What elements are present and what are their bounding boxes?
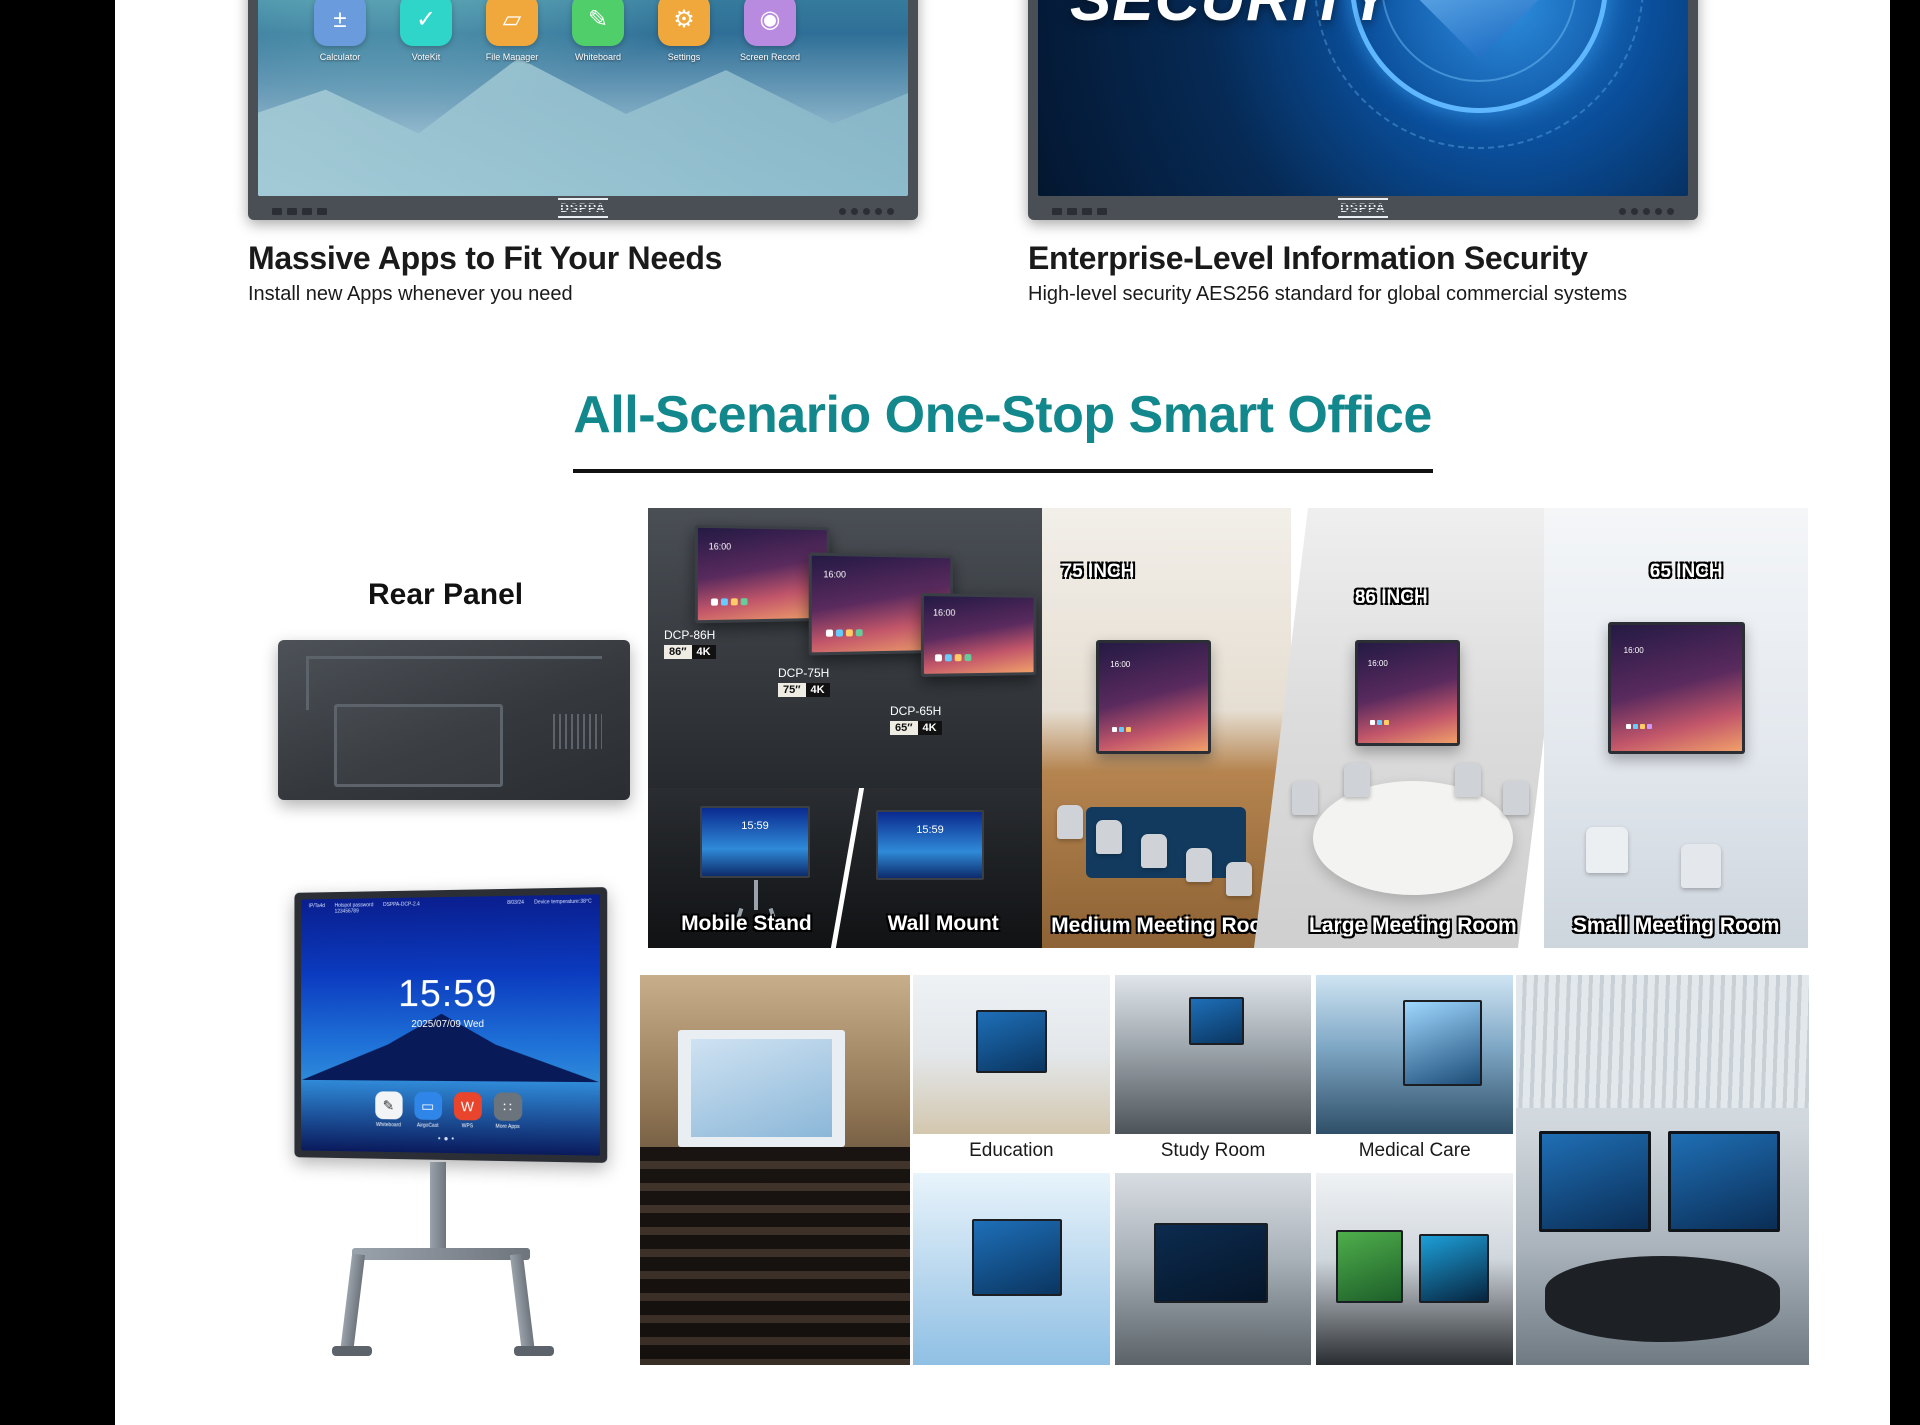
scenario-caption: Education: [913, 1134, 1110, 1168]
cast-icon: ▭: [414, 1092, 442, 1120]
screen-time: 15:59: [702, 820, 808, 832]
boardroom-photo: [1516, 975, 1809, 1365]
port-cluster-right: [1619, 208, 1674, 215]
app-grid: ▭ Airgo Cast ⬆ Easy Upload ⛰ Gallery ⏱: [310, 0, 856, 92]
inch-badge-86: 86 INCH: [1354, 587, 1427, 609]
dock-label: WPS: [452, 1123, 482, 1129]
stand-foot: [514, 1346, 554, 1356]
feature-subtitle: Install new Apps whenever you need: [248, 283, 918, 306]
dock-label: Whiteboard: [374, 1122, 403, 1128]
mount-caption-mobile: Mobile Stand: [648, 912, 845, 936]
model-badges: 65″ 4K: [890, 721, 942, 735]
hotspot-value: 123456789: [335, 909, 359, 915]
banner-line-2: SECURITY: [1070, 0, 1391, 32]
rear-panel-image: [278, 640, 630, 800]
room-large: 16:00 86 INCH Large Meeting Room: [1254, 508, 1572, 948]
scenario-education: Education: [913, 975, 1110, 1168]
scenario-study-room: Study Room: [1115, 975, 1312, 1168]
screen-dock: [711, 598, 748, 606]
inch-badge-75: 75 INCH: [1062, 561, 1135, 583]
app-item[interactable]: ◉ Screen Record: [740, 0, 800, 62]
screen-dock: [1112, 727, 1131, 732]
mount-caption-wall: Wall Mount: [845, 912, 1042, 936]
dock-item[interactable]: ∷ More Apps: [492, 1092, 522, 1130]
device-bezel: DSPPA: [1028, 196, 1698, 220]
file-manager-icon: ▱: [486, 0, 538, 46]
divider: [573, 469, 1433, 473]
scenario-showroom: [1316, 1173, 1513, 1366]
scenario-medical-care: Medical Care: [1316, 975, 1513, 1168]
room-medium: 16:00 75 INCH Medium Meeting Room: [1042, 508, 1291, 948]
screen: 16:00: [1099, 643, 1208, 751]
exhibition-hall-photo: [913, 1173, 1110, 1366]
page-indicator: •●•: [301, 1132, 600, 1146]
app-label: VoteKit: [396, 52, 456, 62]
feature-title: Enterprise-Level Information Security: [1028, 240, 1698, 277]
scenario-grid: Education Study Room Medical Care: [913, 975, 1513, 1365]
product-page: ▭ Airgo Cast ⬆ Easy Upload ⛰ Gallery ⏱: [115, 0, 1890, 1425]
app-label: Settings: [654, 52, 714, 62]
rear-panel-label: Rear Panel: [368, 578, 523, 612]
status-hotspot-password: Hotspot password 123456789: [335, 902, 374, 915]
stand-leg: [510, 1254, 535, 1355]
port-cluster-left: [1052, 208, 1107, 215]
feature-title: Massive Apps to Fit Your Needs: [248, 240, 918, 277]
letterbox-right: [1890, 0, 1920, 1425]
dock-item[interactable]: ▭ AirgoCast: [413, 1092, 443, 1129]
scenario-collage: 16:00 16:00 16:00: [648, 508, 1808, 948]
screen-time: 16:00: [823, 569, 846, 579]
device-screen-apps: ▭ Airgo Cast ⬆ Easy Upload ⛰ Gallery ⏱: [258, 0, 908, 196]
model-badges: 86″ 4K: [664, 645, 716, 659]
resolution-badge: 4K: [918, 721, 942, 735]
port-cluster-left: [272, 208, 327, 215]
mobile-stand-display: IP/Ta4d Hotspot password 123456789 DSPPA…: [290, 890, 620, 1390]
stand-foot: [332, 1346, 372, 1356]
model-label-86: DCP-86H 86″ 4K: [664, 628, 716, 659]
model-label-75: DCP-75H 75″ 4K: [778, 666, 830, 697]
chair-row: [1281, 746, 1545, 922]
scenario-caption: Study Room: [1115, 1134, 1312, 1168]
app-item[interactable]: ± Calculator: [310, 0, 370, 62]
screen-dock: [1369, 720, 1388, 725]
scenario-exhibition: [913, 1173, 1110, 1366]
stand-crossbar: [352, 1248, 530, 1260]
boardroom-display-right: [1668, 1131, 1779, 1232]
screen: 16:00: [1357, 643, 1456, 743]
chair-row: [1544, 746, 1808, 922]
room-small: 16:00 65 INCH Small Meeting Room: [1544, 508, 1808, 948]
feature-subtitle: High-level security AES256 standard for …: [1028, 283, 1698, 306]
screen-dock: [935, 654, 971, 661]
display-device-apps: ▭ Airgo Cast ⬆ Easy Upload ⛰ Gallery ⏱: [248, 0, 918, 220]
app-item[interactable]: ▱ File Manager: [482, 0, 542, 62]
model-label-65: DCP-65H 65″ 4K: [890, 704, 942, 735]
boardroom-display-left: [1539, 1131, 1650, 1232]
panel-module-box: [334, 704, 503, 787]
size-badge: 65″: [890, 721, 918, 735]
mount-options: 15:59 15:59 Mobile Stand Wall Mount: [648, 788, 1042, 948]
stand-leg: [340, 1254, 365, 1355]
device-bezel: DSPPA: [248, 196, 918, 220]
app-item[interactable]: ⚙ Settings: [654, 0, 714, 62]
brand-logo: DSPPA: [1338, 198, 1387, 218]
screen-time: 16:00: [1624, 646, 1644, 655]
model-badges: 75″ 4K: [778, 683, 830, 697]
education-photo: [913, 975, 1110, 1134]
chair-row: [1042, 746, 1291, 922]
clock-time: 15:59: [301, 972, 600, 1016]
stand-column: [430, 1162, 446, 1248]
size-badge: 75″: [778, 683, 806, 697]
screen-dock: [1626, 724, 1652, 729]
display-device-security: HIGH SECURITY DSPPA: [1028, 0, 1698, 220]
screen: 16:00: [924, 596, 1034, 674]
feature-massive-apps: ▭ Airgo Cast ⬆ Easy Upload ⛰ Gallery ⏱: [248, 0, 918, 306]
room-caption: Small Meeting Room: [1544, 914, 1808, 938]
showroom-photo: [1316, 1173, 1513, 1366]
panel-brace: [306, 656, 602, 710]
calculator-icon: ±: [314, 0, 366, 46]
panel-vent: [553, 714, 602, 749]
lineup-sizes: 16:00 16:00 16:00: [648, 508, 1042, 788]
clock-date: 2025/07/09 Wed: [301, 1019, 600, 1030]
ceiling-slats: [1516, 975, 1809, 1108]
whiteboard-pen-icon: ✎: [375, 1091, 402, 1119]
scenario-caption: Medical Care: [1316, 1134, 1513, 1168]
app-label: Screen Record: [740, 52, 800, 62]
status-ssid: DSPPA-DCP-2.4: [383, 901, 420, 908]
page-title: All-Scenario One-Stop Smart Office: [115, 385, 1890, 445]
dock-item[interactable]: ✎ Whiteboard: [374, 1091, 403, 1128]
gear-icon: ⚙: [658, 0, 710, 46]
device-screen-security: HIGH SECURITY: [1038, 0, 1688, 196]
screen-record-icon: ◉: [744, 0, 796, 46]
app-label: Calculator: [310, 52, 370, 62]
status-user: 8/03/24: [507, 900, 524, 907]
room-caption: Medium Meeting Room: [1042, 914, 1291, 938]
wall-mount-thumb: 15:59: [876, 810, 984, 880]
screen-dock: [826, 629, 863, 637]
scenario-control-room: [1115, 1173, 1312, 1366]
room-caption: Large Meeting Room: [1281, 914, 1545, 938]
room-display: 16:00: [1608, 622, 1745, 754]
room-display: 16:00: [1354, 640, 1459, 746]
resolution-badge: 4K: [806, 683, 830, 697]
screen: 15:59: [878, 812, 982, 878]
brand-logo: DSPPA: [558, 198, 607, 218]
dock-item[interactable]: W WPS: [452, 1092, 482, 1129]
screen-time: 16:00: [1367, 659, 1387, 668]
dock-label: AirgoCast: [413, 1123, 443, 1129]
status-ip: IP/Ta4d: [309, 903, 325, 909]
product-lineup-panel: 16:00 16:00 16:00: [648, 508, 1042, 948]
more-apps-icon: ∷: [493, 1092, 521, 1121]
wps-icon: W: [453, 1092, 481, 1120]
inch-badge-65: 65 INCH: [1650, 561, 1723, 583]
scenario-row-2: [913, 1173, 1513, 1366]
model-name: DCP-65H: [890, 704, 942, 718]
mobile-stand-thumb: 15:59: [700, 806, 810, 878]
boardroom-table: [1545, 1256, 1779, 1342]
app-label: File Manager: [482, 52, 542, 62]
app-row-2: ± Calculator ✓ VoteKit ▱ File Manager: [310, 0, 856, 62]
app-label: Whiteboard: [568, 52, 628, 62]
stand-frame: [318, 1162, 586, 1352]
whiteboard-pen-icon: ✎: [572, 0, 624, 46]
medical-care-photo: [1316, 975, 1513, 1134]
screen-time: 16:00: [709, 541, 731, 551]
stand-screen-content: IP/Ta4d Hotspot password 123456789 DSPPA…: [301, 894, 600, 1155]
product-65h: 16:00: [921, 593, 1036, 677]
clock-widget: 15:59 2025/07/09 Wed: [301, 972, 600, 1030]
port-cluster-right: [839, 208, 894, 215]
study-room-photo: [1115, 975, 1312, 1134]
resolution-badge: 4K: [692, 645, 716, 659]
screen: 15:59: [702, 808, 808, 876]
security-banner: HIGH SECURITY: [1070, 0, 1391, 32]
app-dock: ✎ Whiteboard ▭ AirgoCast W WPS ∷ More Ap…: [301, 1091, 600, 1132]
model-name: DCP-75H: [778, 666, 830, 680]
lecture-hall-photo: [640, 975, 910, 1365]
model-name: DCP-86H: [664, 628, 716, 642]
screen-time: 15:59: [878, 824, 982, 836]
auditorium-seats: [640, 1147, 910, 1365]
dock-label: More Apps: [492, 1124, 522, 1130]
control-room-photo: [1115, 1173, 1312, 1366]
status-bar: IP/Ta4d Hotspot password 123456789 DSPPA…: [301, 898, 600, 915]
app-item[interactable]: ✓ VoteKit: [396, 0, 456, 62]
screen-time: 16:00: [933, 607, 955, 617]
room-display: 16:00: [1096, 640, 1211, 754]
screen: 16:00: [698, 528, 827, 620]
application-scenarios: Education Study Room Medical Care: [640, 975, 1810, 1365]
stand-screen-frame: IP/Ta4d Hotspot password 123456789 DSPPA…: [294, 887, 607, 1163]
feature-security: HIGH SECURITY DSPPA Enterprise-Level Inf…: [1028, 0, 1698, 306]
votekit-icon: ✓: [400, 0, 452, 46]
status-temperature: Device temperature:38°C: [534, 899, 592, 906]
section-header: All-Scenario One-Stop Smart Office: [115, 385, 1890, 473]
scenario-row-1: Education Study Room Medical Care: [913, 975, 1513, 1168]
app-item[interactable]: ✎ Whiteboard: [568, 0, 628, 62]
lecture-screen: [678, 1030, 845, 1147]
screen: 16:00: [1611, 625, 1742, 751]
screen-time: 16:00: [1110, 660, 1130, 669]
size-badge: 86″: [664, 645, 692, 659]
